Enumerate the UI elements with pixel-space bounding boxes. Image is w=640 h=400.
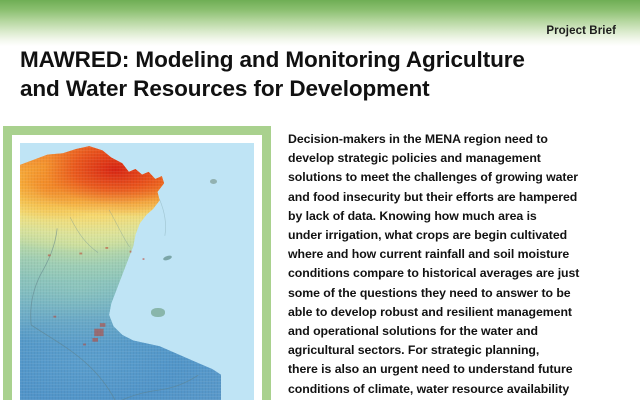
page-title-line-1: MAWRED: Modeling and Monitoring Agricult… (20, 46, 620, 75)
map-figure-frame (3, 126, 271, 400)
tunisia-heatmap-image (20, 143, 254, 400)
body-line: Decision-makers in the MENA region need … (288, 130, 628, 149)
body-line: under irrigation, what crops are begin c… (288, 226, 628, 245)
body-paragraph: Decision-makers in the MENA region need … (288, 130, 628, 400)
body-line: solutions to meet the challenges of grow… (288, 168, 628, 187)
body-line: some of the questions they need to answe… (288, 284, 628, 303)
document-kicker: Project Brief (546, 25, 616, 38)
body-line: by lack of data. Knowing how much area i… (288, 207, 628, 226)
body-line: develop strategic policies and managemen… (288, 149, 628, 168)
page-title-line-2: and Water Resources for Development (20, 75, 620, 104)
hydrography-and-border-vectors (20, 143, 254, 400)
body-line: and operational solutions for the water … (288, 322, 628, 341)
body-line: agricultural sectors. For strategic plan… (288, 341, 628, 360)
header-gradient-band (0, 0, 640, 46)
body-line: able to develop robust and resilient man… (288, 303, 628, 322)
body-line: conditions of climate, water resource av… (288, 380, 628, 399)
body-line: there is also an urgent need to understa… (288, 360, 628, 379)
body-line: and food insecurity but their efforts ar… (288, 188, 628, 207)
body-line: conditions compare to historical average… (288, 264, 628, 283)
body-paragraph-text: Decision-makers in the MENA region need … (288, 130, 628, 400)
document-page: Project Brief MAWRED: Modeling and Monit… (0, 0, 640, 400)
page-title: MAWRED: Modeling and Monitoring Agricult… (20, 46, 620, 103)
body-line: where and how current rainfall and soil … (288, 245, 628, 264)
